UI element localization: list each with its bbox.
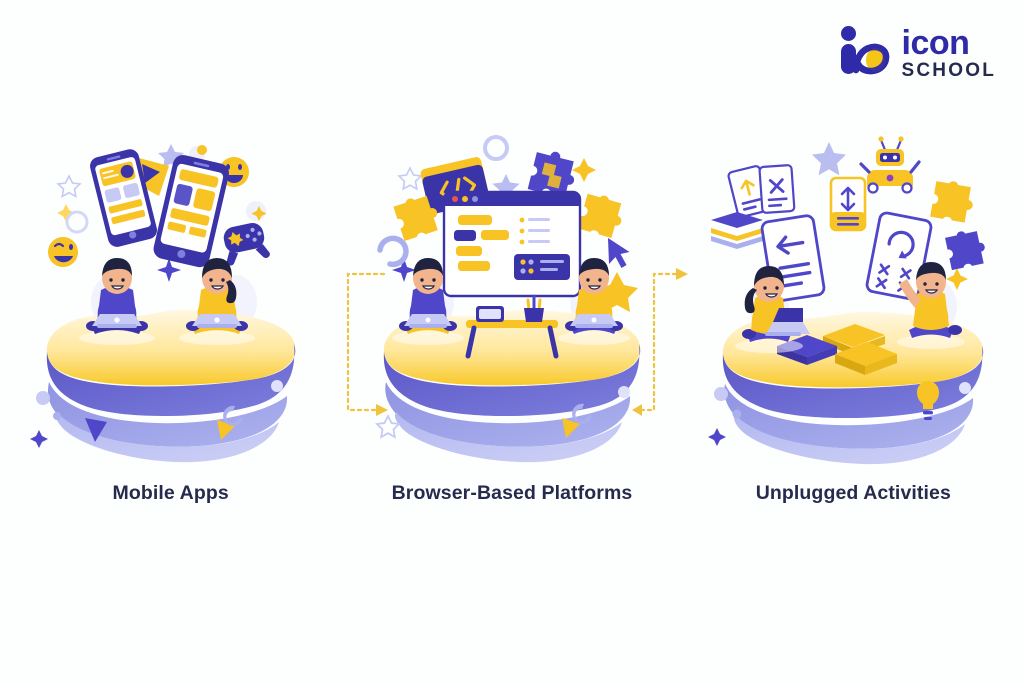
decor-circle-outline-icon: [485, 137, 507, 159]
decor-sparkle-icon: [572, 158, 596, 182]
gamepad-icon: [219, 220, 270, 266]
logo-wordmark: icon SCHOOL: [902, 26, 996, 80]
panel-unplugged-activities: [683, 120, 1024, 540]
decor-sparkle-small-icon: [246, 201, 267, 221]
coding-card-arrow-updown: [831, 178, 865, 230]
caption-text: Unplugged Activities: [723, 480, 984, 506]
caption-text: Browser-Based Platforms: [381, 480, 642, 506]
lightbulb-icon: [917, 381, 939, 420]
puzzle-piece-yellow-right-icon: [578, 191, 627, 239]
decor-star-icon: [812, 142, 846, 175]
robot-icon: [861, 136, 919, 192]
refresh-arc-icon: [380, 238, 406, 264]
panel-mobile-apps: [0, 120, 341, 540]
tablet-on-desk-icon: [476, 306, 504, 322]
cursor-arrow-icon: [608, 238, 630, 268]
logo-word-icon: icon: [902, 26, 996, 60]
caption-browser-based-platforms: Browser-Based Platforms: [341, 480, 682, 506]
illustration-stage: icon SCHOOL: [0, 0, 1024, 683]
captions-row: Mobile Apps Browser-Based Platforms Unpl…: [0, 480, 1024, 506]
browser-platforms-illustration: [362, 130, 662, 480]
puzzle-piece-yellow-icon: [930, 178, 976, 223]
book-stack-icon: [711, 212, 763, 249]
unplugged-activities-illustration: [703, 130, 1003, 480]
logo-mark-icon: [834, 24, 892, 82]
connector-browser-to-unplugged: [632, 268, 694, 416]
logo-word-school: SCHOOL: [902, 61, 996, 80]
connector-mobile-to-browser: [340, 268, 392, 416]
panels-row: [0, 120, 1024, 540]
decor-star-outline-icon: [399, 168, 421, 189]
puzzle-piece-blue-icon: [945, 227, 989, 270]
icon-school-logo: icon SCHOOL: [834, 24, 996, 82]
pencil-cup-icon: [524, 296, 544, 322]
laughing-emoji-icon: [48, 237, 78, 267]
decor-circle-outline-icon: [67, 212, 87, 232]
caption-text: Mobile Apps: [40, 480, 301, 506]
card-stack-icon: [728, 165, 795, 218]
scratch-editor-window: [444, 192, 580, 296]
caption-unplugged-activities: Unplugged Activities: [683, 480, 1024, 506]
caption-mobile-apps: Mobile Apps: [0, 480, 341, 506]
mobile-apps-illustration: [21, 130, 321, 480]
decor-star-outline-icon: [58, 176, 80, 197]
floating-island: [46, 310, 294, 462]
